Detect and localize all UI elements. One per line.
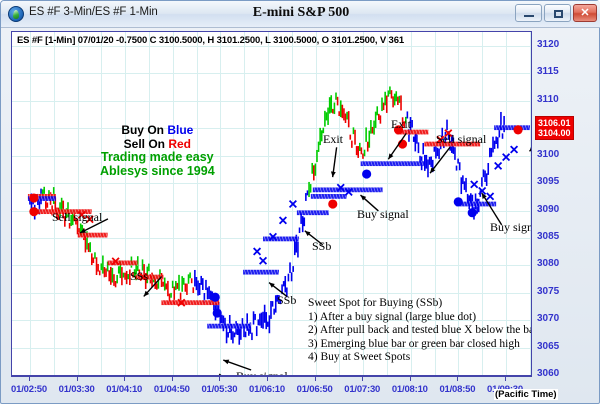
time-axis-mark (172, 377, 173, 381)
sweet-spot-info-box: Sweet Spot for Buying (SSb) 1) After a b… (308, 297, 532, 365)
gridline-vertical-minor (197, 32, 198, 375)
annotation-label: SSb (277, 293, 296, 308)
sweet-spot-item-4: 4) Buy at Sweet Spots (308, 351, 532, 365)
annotation-label: Buy signal (490, 220, 532, 235)
time-axis-mark (410, 377, 411, 381)
sweet-spot-title: Sweet Spot for Buying (SSb) (308, 297, 532, 311)
price-axis-tick: 3090 (537, 204, 559, 215)
gridline-vertical (173, 32, 174, 375)
minimize-button[interactable] (515, 4, 542, 22)
gridline-vertical (125, 32, 126, 375)
current-price-top: 3106.01 (538, 118, 571, 128)
gridline-horizontal (12, 156, 531, 157)
gridline-vertical (78, 32, 79, 375)
annotation-label: SSs (130, 269, 148, 284)
window-titlebar[interactable]: ES #F 3-Min/ES #F 1-Min E-mini S&P 500 ✕ (1, 1, 600, 28)
gridline-horizontal (12, 46, 531, 47)
price-axis-tick: 3115 (537, 66, 559, 77)
price-axis-tick: 3085 (537, 231, 559, 242)
promo-line-1-prefix: Buy On (121, 123, 167, 137)
time-axis-mark (315, 377, 316, 381)
gridline-horizontal (12, 265, 531, 266)
gridline-horizontal (12, 238, 531, 239)
promo-line-4: Ablesys since 1994 (100, 165, 215, 179)
annotation-label: Buy signal (357, 207, 409, 222)
gridline-vertical-minor (292, 32, 293, 375)
price-axis-tick: 3095 (537, 176, 559, 187)
promo-line-3: Trading made easy (100, 151, 215, 165)
close-button[interactable]: ✕ (573, 4, 597, 22)
promo-line-2: Sell On Red (100, 138, 215, 152)
annotation-label: Exit (391, 117, 411, 132)
sweet-spot-item-2: 2) After pull back and tested blue X bel… (308, 324, 532, 338)
current-price-bottom: 3104.00 (538, 128, 571, 138)
time-axis-mark (505, 377, 506, 381)
gridline-vertical-minor (54, 32, 55, 375)
time-axis-tick: 01/04:50 (154, 384, 190, 395)
promo-line-2-word: Red (168, 137, 191, 151)
annotation-label: Sell signal (436, 132, 486, 147)
price-axis-tick: 3100 (537, 149, 559, 160)
gridline-vertical (220, 32, 221, 375)
time-axis-mark (29, 377, 30, 381)
ohlc-info-line: ES #F [1-Min] 07/01/20 -0.7500 C 3100.50… (17, 35, 404, 46)
gridline-vertical-minor (244, 32, 245, 375)
price-axis-tick: 3070 (537, 313, 559, 324)
gridline-horizontal (12, 101, 531, 102)
maximize-button[interactable] (544, 4, 571, 22)
annotation-label: Sell signal (52, 210, 102, 225)
sweet-spot-item-1: 1) After a buy signal (large blue dot) (308, 311, 532, 325)
price-axis-tick: 3060 (537, 368, 559, 379)
gridline-vertical (30, 32, 31, 375)
time-axis-mark (77, 377, 78, 381)
price-axis: 3106.01 3104.00 312031153110310531003095… (534, 31, 594, 376)
time-axis-tick: 01/02:50 (11, 384, 47, 395)
price-axis-tick: 3120 (537, 39, 559, 50)
time-axis-mark (362, 377, 363, 381)
sweet-spot-item-3: 3) Emerging blue bar or green bar closed… (308, 338, 532, 352)
gridline-horizontal (12, 73, 531, 74)
price-plot-area[interactable]: ES #F [1-Min] 07/01/20 -0.7500 C 3100.50… (11, 31, 532, 376)
gridline-horizontal (12, 183, 531, 184)
annotation-label: Exit (323, 132, 343, 147)
time-axis-tick: 01/08:50 (439, 384, 475, 395)
price-axis-tick: 3110 (537, 94, 559, 105)
gridline-vertical-minor (149, 32, 150, 375)
time-axis-mark (124, 377, 125, 381)
time-axis-tick: 01/04:10 (106, 384, 142, 395)
gridline-horizontal (12, 293, 531, 294)
price-axis-tick: 3065 (537, 341, 559, 352)
time-axis: 01/02:5001/03:3001/04:1001/04:5001/05:30… (11, 376, 532, 400)
chart-container: ES #F [1-Min] 07/01/20 -0.7500 C 3100.50… (7, 31, 595, 399)
close-icon: ✕ (574, 5, 596, 21)
chart-window: ES #F 3-Min/ES #F 1-Min E-mini S&P 500 ✕… (0, 0, 600, 404)
gridline-vertical (268, 32, 269, 375)
timezone-note: (Pacific Time) (494, 389, 558, 400)
price-axis-tick: 3080 (537, 258, 559, 269)
time-axis-tick: 01/05:30 (201, 384, 237, 395)
current-price-tag: 3106.01 3104.00 (535, 116, 574, 140)
price-axis-tick: 3075 (537, 286, 559, 297)
time-axis-tick: 01/08:10 (392, 384, 428, 395)
maximize-icon (554, 10, 563, 18)
time-axis-mark (457, 377, 458, 381)
promo-line-2-prefix: Sell On (124, 137, 169, 151)
time-axis-tick: 01/06:50 (297, 384, 333, 395)
window-center-title: E-mini S&P 500 (1, 5, 600, 21)
gridline-horizontal (12, 128, 531, 129)
time-axis-tick: 01/07:30 (344, 384, 380, 395)
promo-text-block: Buy On Blue Sell On Red Trading made eas… (100, 124, 215, 178)
time-axis-tick: 01/06:10 (249, 384, 285, 395)
annotation-label: Buy signal (236, 369, 288, 376)
time-axis-mark (267, 377, 268, 381)
promo-line-1-word: Blue (167, 123, 193, 137)
time-axis-tick: 01/03:30 (59, 384, 95, 395)
time-axis-mark (219, 377, 220, 381)
minimize-icon (524, 15, 534, 17)
gridline-vertical-minor (101, 32, 102, 375)
promo-line-1: Buy On Blue (100, 124, 215, 138)
annotation-label: SSb (312, 239, 331, 254)
